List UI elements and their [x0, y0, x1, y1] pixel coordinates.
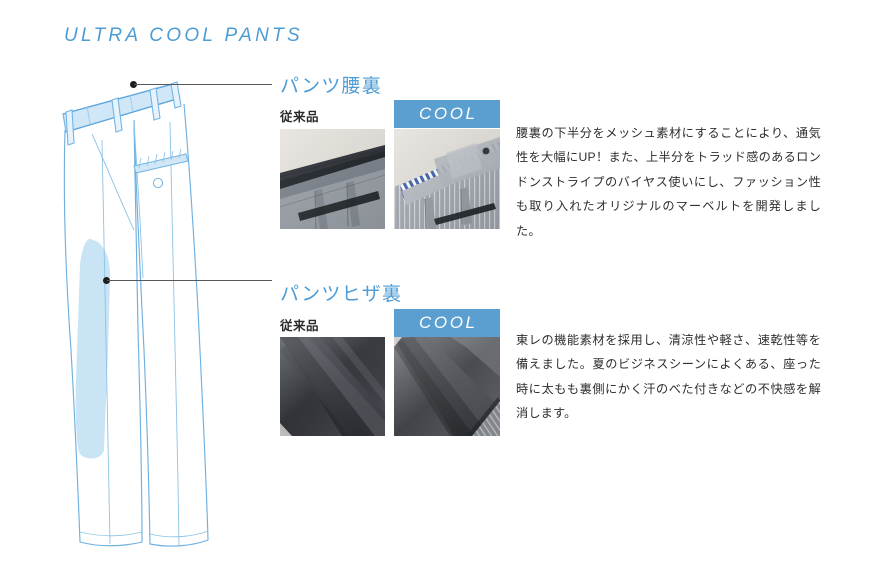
cool-waistband-photo — [394, 129, 500, 229]
back-pocket — [134, 149, 188, 188]
callout-line-knee-back — [107, 280, 272, 281]
conventional-waistband-photo — [280, 129, 385, 229]
crease-lines — [102, 122, 179, 546]
callout-line-waistband — [134, 84, 272, 85]
label-conventional-knee: 従来品 — [280, 315, 319, 334]
label-conventional-waist: 従来品 — [280, 106, 319, 125]
body-copy-knee-back: 東レの機能素材を採用し、清涼性や軽さ、速乾性等を備えました。夏のビジネスシーンに… — [516, 328, 821, 426]
cool-banner-waist: COOL — [394, 100, 500, 128]
hem-lines — [80, 531, 208, 537]
conventional-knee-lining-photo — [280, 337, 385, 436]
page-title: ULTRA COOL PANTS — [64, 25, 303, 47]
section-heading-waist-lining: パンツ腰裏 — [280, 71, 382, 98]
section-heading-knee-back: パンツヒザ裏 — [280, 279, 402, 306]
body-copy-waist-lining: 腰裏の下半分をメッシュ素材にすることにより、通気性を大幅にUP！また、上半分をト… — [516, 121, 821, 243]
pants-illustration — [30, 50, 280, 550]
pants-illustration-svg — [30, 50, 280, 550]
cool-banner-knee: COOL — [394, 309, 500, 337]
cool-knee-lining-photo — [394, 337, 500, 436]
pleat-seam — [92, 134, 134, 230]
